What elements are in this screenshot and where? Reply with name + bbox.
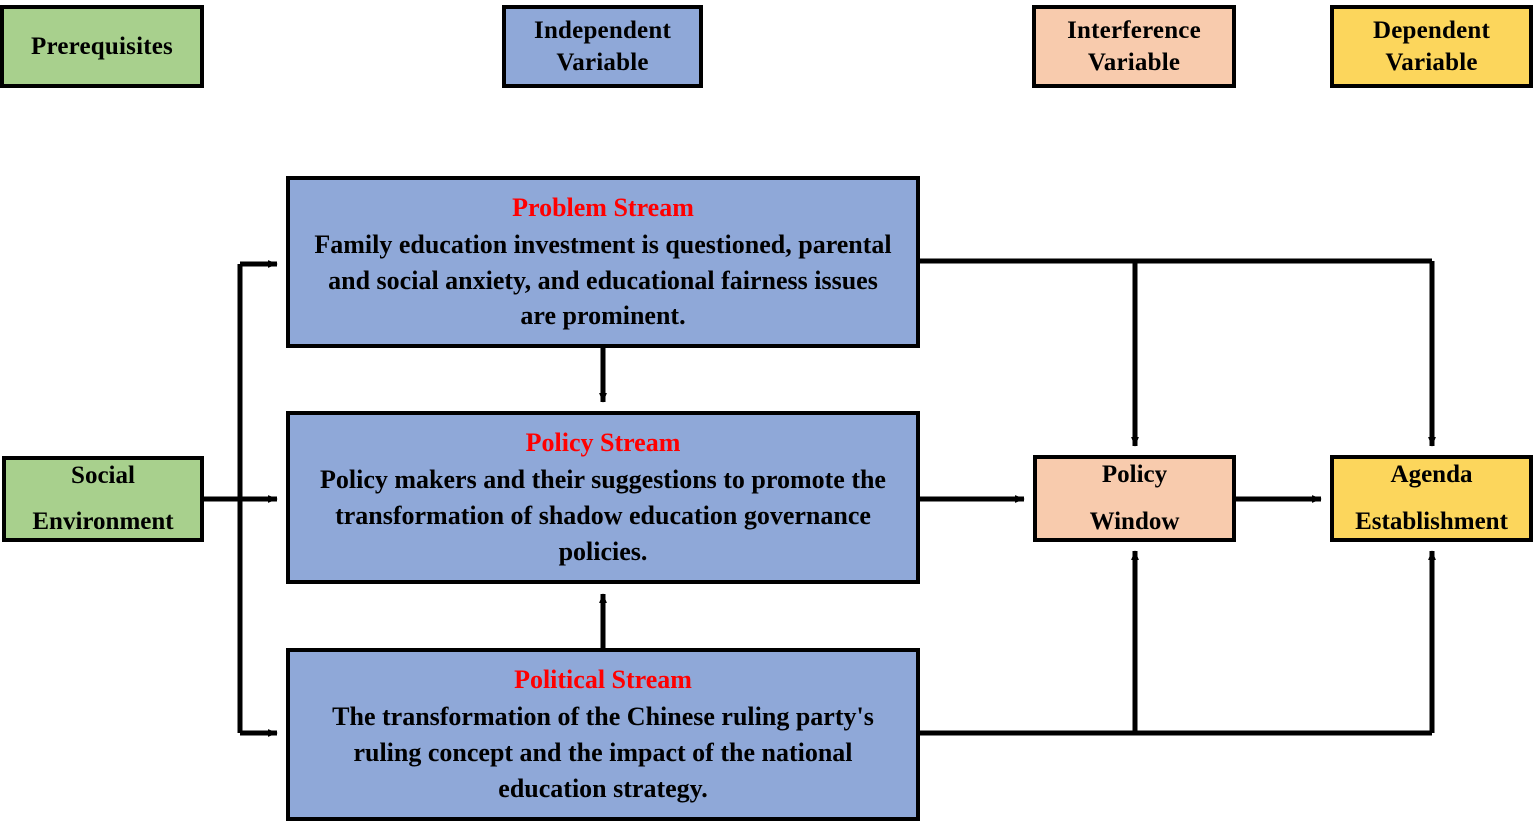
legend-item-independent-variable: Independent Variable — [502, 5, 703, 88]
legend-item-dependent-variable: Dependent Variable — [1330, 5, 1533, 88]
agenda-establishment-line1: Agenda — [1391, 452, 1473, 498]
social-environment-line1: Social — [71, 453, 135, 499]
legend-independent-line2: Variable — [556, 47, 648, 79]
node-agenda-establishment: Agenda Establishment — [1330, 455, 1533, 542]
legend-interference-line2: Variable — [1088, 47, 1180, 79]
legend-prerequisites-line1: Prerequisites — [31, 31, 173, 63]
node-political-stream: Political Stream The transformation of t… — [286, 648, 920, 821]
policy-window-line2: Window — [1090, 499, 1180, 545]
legend-item-interference-variable: Interference Variable — [1032, 5, 1236, 88]
legend-item-prerequisites: Prerequisites — [0, 5, 204, 88]
agenda-establishment-line2: Establishment — [1355, 499, 1508, 545]
legend-dependent-line2: Variable — [1385, 47, 1477, 79]
problem-stream-title: Problem Stream — [512, 190, 694, 226]
social-environment-line2: Environment — [32, 499, 173, 545]
node-problem-stream: Problem Stream Family education investme… — [286, 176, 920, 348]
policy-stream-body: Policy makers and their suggestions to p… — [308, 462, 898, 570]
node-social-environment: Social Environment — [2, 456, 204, 542]
diagram-canvas: Prerequisites Independent Variable Inter… — [0, 0, 1535, 821]
node-policy-stream: Policy Stream Policy makers and their su… — [286, 411, 920, 584]
policy-window-line1: Policy — [1102, 452, 1167, 498]
node-policy-window: Policy Window — [1033, 455, 1236, 542]
problem-stream-body: Family education investment is questione… — [308, 227, 898, 335]
political-stream-body: The transformation of the Chinese ruling… — [308, 699, 898, 807]
legend-dependent-line1: Dependent — [1373, 15, 1490, 47]
policy-stream-title: Policy Stream — [526, 425, 681, 461]
legend-independent-line1: Independent — [534, 15, 671, 47]
legend-interference-line1: Interference — [1067, 15, 1201, 47]
political-stream-title: Political Stream — [514, 662, 692, 698]
